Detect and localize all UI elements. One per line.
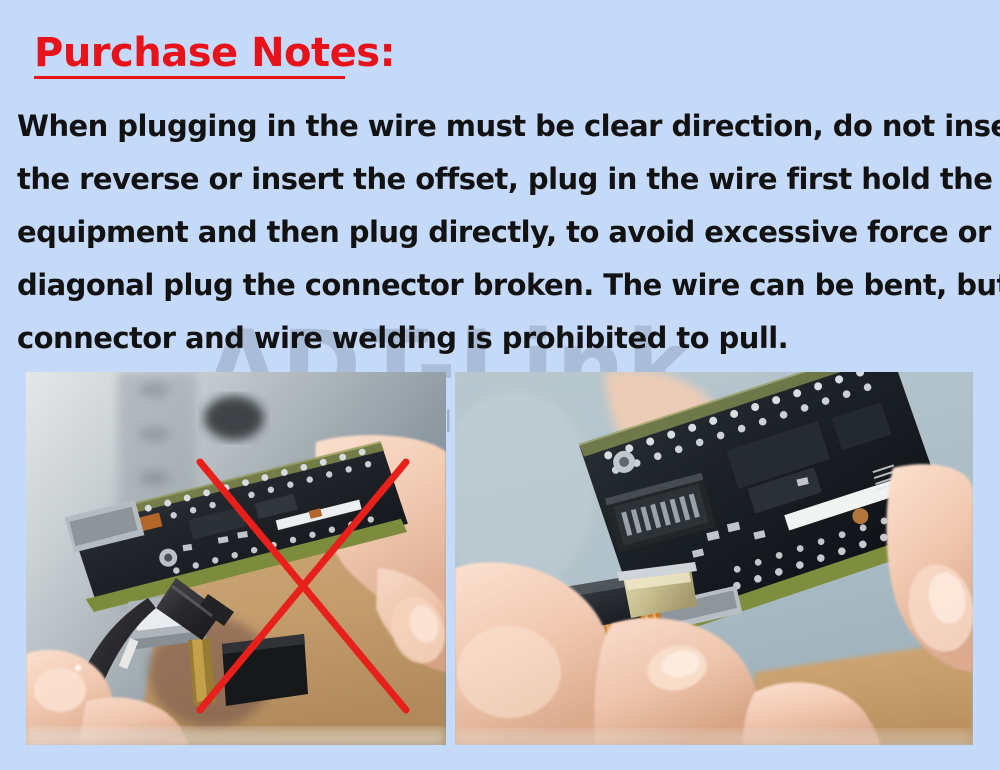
photo-incorrect [26, 372, 446, 745]
photo-correct-image [455, 372, 973, 745]
notes-line: diagonal plug the connector broken. The … [17, 259, 987, 312]
page-title: Purchase Notes: [34, 32, 395, 74]
notes-line: When plugging in the wire must be clear … [17, 100, 987, 153]
red-x-cross-icon [26, 372, 446, 745]
notes-paragraph: When plugging in the wire must be clear … [17, 100, 987, 365]
purchase-notes-page: ADT-Link adt-link.aliexpress.com [0, 0, 1000, 770]
page-title-block: Purchase Notes: [34, 32, 395, 79]
notes-line: equipment and then plug directly, to avo… [17, 206, 987, 259]
page-title-underline [34, 76, 345, 79]
photo-correct [455, 372, 973, 745]
notes-line: the reverse or insert the offset, plug i… [17, 153, 987, 206]
notes-line: connector and wire welding is prohibited… [17, 312, 987, 365]
